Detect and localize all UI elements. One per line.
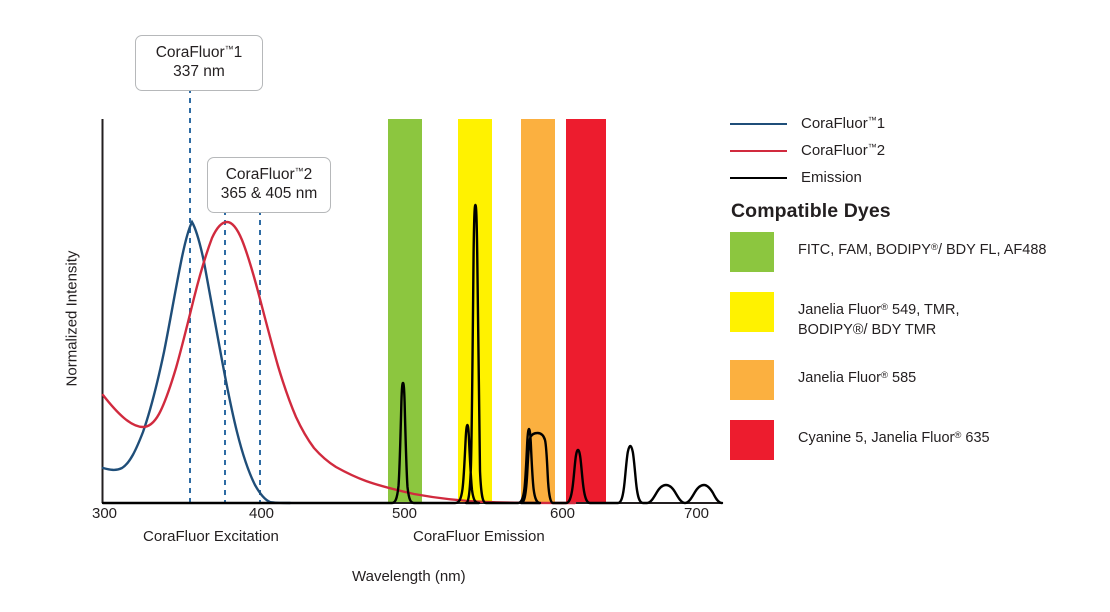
dye-item-green: FITC, FAM, BODIPY®/ BDY FL, AF488 xyxy=(730,232,1110,272)
dye-swatch-orange xyxy=(730,360,774,400)
x-axis-title: Wavelength (nm) xyxy=(352,568,466,585)
spectra-chart: CoraFluor™1 337 nm CoraFluor™2 365 & 405… xyxy=(0,0,730,612)
dye-label-yellow-line2: BODIPY®/ BDY TMR xyxy=(798,322,936,338)
legend-label-corafluor2: CoraFluor™2 xyxy=(801,142,885,159)
x-tick-label-700: 700 xyxy=(684,505,709,522)
compatible-dyes-list: FITC, FAM, BODIPY®/ BDY FL, AF488 Janeli… xyxy=(730,232,1110,480)
legend-label-emission: Emission xyxy=(801,169,862,186)
band-yellow xyxy=(458,119,492,503)
callout-corafluor2-index: 2 xyxy=(304,166,313,183)
legend-line-emission xyxy=(730,177,787,179)
registered-symbol: ® xyxy=(881,302,888,313)
dye-swatch-red xyxy=(730,420,774,460)
dye-label-green-text: FITC, FAM, BODIPY xyxy=(798,242,931,258)
dye-label-yellow-text2: 549, TMR, xyxy=(888,302,959,318)
y-axis-title: Normalized Intensity xyxy=(64,229,81,409)
dye-swatch-yellow xyxy=(730,292,774,332)
x-tick-label-300: 300 xyxy=(92,505,117,522)
callout-corafluor1: CoraFluor™1 337 nm xyxy=(135,35,263,91)
x-tick-label-600: 600 xyxy=(550,505,575,522)
dye-item-red: Cyanine 5, Janelia Fluor® 635 xyxy=(730,420,1110,460)
curve-corafluor1 xyxy=(103,222,290,503)
axis-section-label-excitation: CoraFluor Excitation xyxy=(143,528,279,545)
callout-corafluor1-name: CoraFluor xyxy=(156,44,225,61)
legend-item-corafluor2: CoraFluor™2 xyxy=(730,137,1070,164)
dye-label-orange: Janelia Fluor® 585 xyxy=(798,360,916,389)
legend-text-corafluor1: CoraFluor xyxy=(801,115,868,132)
trademark-symbol: ™ xyxy=(295,166,304,176)
x-tick-label-400: 400 xyxy=(249,505,274,522)
band-red xyxy=(566,119,606,503)
dye-label-orange-text2: 585 xyxy=(888,370,916,386)
curve-corafluor2 xyxy=(103,222,575,503)
legend-text-corafluor2: CoraFluor xyxy=(801,142,868,159)
dye-label-yellow: Janelia Fluor® 549, TMR,BODIPY®/ BDY TMR xyxy=(798,292,959,340)
trademark-symbol: ™ xyxy=(868,115,877,125)
registered-symbol: ® xyxy=(931,242,938,253)
callout-corafluor1-line2: 337 nm xyxy=(148,62,250,81)
axis-section-label-emission: CoraFluor Emission xyxy=(413,528,545,545)
dye-item-orange: Janelia Fluor® 585 xyxy=(730,360,1110,400)
callout-corafluor2-line2: 365 & 405 nm xyxy=(220,184,318,203)
legend-item-corafluor1: CoraFluor™1 xyxy=(730,110,1070,137)
legend-label-corafluor1: CoraFluor™1 xyxy=(801,115,885,132)
dye-label-orange-text: Janelia Fluor xyxy=(798,370,881,386)
dye-label-red-text2: 635 xyxy=(961,430,989,446)
legend-panel: CoraFluor™1 CoraFluor™2 Emission Compati… xyxy=(730,0,1110,612)
dye-label-red: Cyanine 5, Janelia Fluor® 635 xyxy=(798,420,990,449)
dye-bands xyxy=(388,119,606,503)
dye-label-green: FITC, FAM, BODIPY®/ BDY FL, AF488 xyxy=(798,232,1046,261)
callout-corafluor2-name: CoraFluor xyxy=(226,166,295,183)
trademark-symbol: ™ xyxy=(868,142,877,152)
trademark-symbol: ™ xyxy=(225,44,234,54)
legend-text-emission: Emission xyxy=(801,169,862,186)
legend-line-corafluor1 xyxy=(730,123,787,125)
legend-index-corafluor1: 1 xyxy=(877,115,885,132)
excitation-marker-lines xyxy=(190,78,260,503)
callout-corafluor1-line1: CoraFluor™1 xyxy=(148,43,250,62)
dye-label-yellow-text: Janelia Fluor xyxy=(798,302,881,318)
callout-corafluor2-line1: CoraFluor™2 xyxy=(220,165,318,184)
callout-corafluor1-index: 1 xyxy=(234,44,243,61)
dye-label-red-text: Cyanine 5, Janelia Fluor xyxy=(798,430,954,446)
compatible-dyes-title: Compatible Dyes xyxy=(731,200,891,223)
dye-swatch-green xyxy=(730,232,774,272)
callout-corafluor2: CoraFluor™2 365 & 405 nm xyxy=(207,157,331,213)
registered-symbol: ® xyxy=(881,370,888,381)
legend-item-emission: Emission xyxy=(730,164,1070,191)
series-legend: CoraFluor™1 CoraFluor™2 Emission xyxy=(730,110,1070,191)
x-tick-label-500: 500 xyxy=(392,505,417,522)
legend-line-corafluor2 xyxy=(730,150,787,152)
dye-label-green-text2: / BDY FL, AF488 xyxy=(938,242,1047,258)
dye-item-yellow: Janelia Fluor® 549, TMR,BODIPY®/ BDY TMR xyxy=(730,292,1110,340)
legend-index-corafluor2: 2 xyxy=(877,142,885,159)
